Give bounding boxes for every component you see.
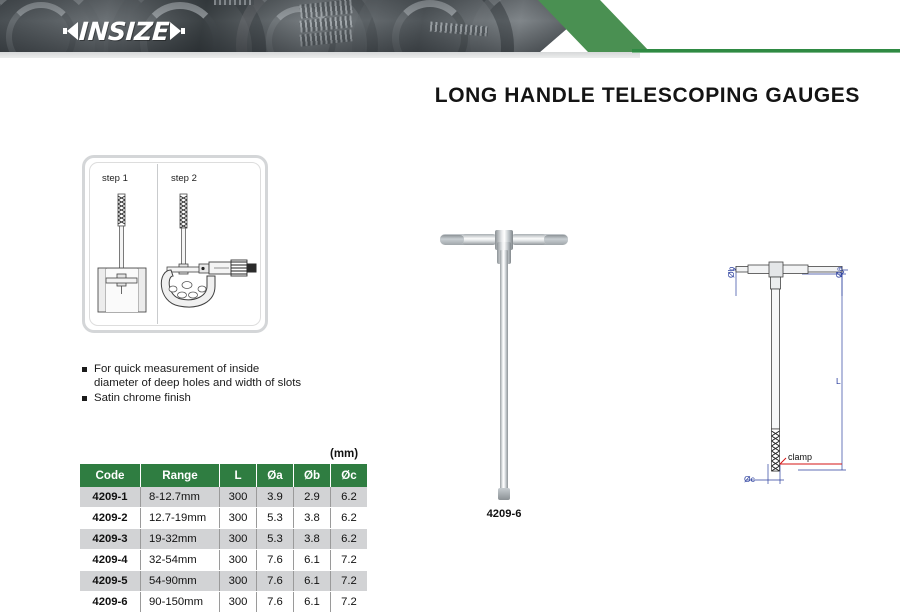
technical-drawing: Øb Øa L Øc clamp: [706, 252, 896, 520]
cell-range: 54-90mm: [141, 571, 220, 592]
list-item: For quick measurement of inside diameter…: [82, 362, 382, 390]
dimension-label-length: L: [836, 376, 841, 386]
cell-l: 300: [220, 508, 257, 529]
cell-oa: 7.6: [257, 550, 294, 571]
cell-oc: 7.2: [331, 571, 368, 592]
cell-oa: 5.3: [257, 508, 294, 529]
feature-text: For quick measurement of inside diameter…: [94, 362, 301, 390]
cell-ob: 3.8: [294, 508, 331, 529]
cell-ob: 6.1: [294, 571, 331, 592]
table-row: 4209-5 54-90mm 300 7.6 6.1 7.2: [80, 571, 367, 592]
cell-l: 300: [220, 487, 257, 508]
feature-list: For quick measurement of inside diameter…: [82, 362, 382, 406]
product-photo: 4209-6: [432, 212, 576, 512]
gauge-left-sleeve: [462, 234, 496, 245]
cell-code: 4209-4: [80, 550, 141, 571]
table-row: 4209-1 8-12.7mm 300 3.9 2.9 6.2: [80, 487, 367, 508]
cell-range: 32-54mm: [141, 550, 220, 571]
square-bullet-icon: [82, 367, 87, 372]
unit-note: (mm): [330, 448, 358, 460]
gauge-left-tip: [440, 235, 464, 244]
cell-range: 90-150mm: [141, 592, 220, 613]
gauge-right-sleeve: [512, 234, 546, 245]
cell-oc: 7.2: [331, 550, 368, 571]
cell-code: 4209-3: [80, 529, 141, 550]
left-arrow-icon: [67, 22, 78, 40]
dimension-label-dia-a: Øa: [834, 267, 844, 278]
page-header: INSIZE: [0, 0, 900, 60]
step2-label: step 2: [171, 173, 197, 184]
list-item: Satin chrome finish: [82, 391, 382, 405]
column-header-dia-a: Øa: [257, 464, 294, 487]
cell-oc: 7.2: [331, 592, 368, 613]
cell-oc: 6.2: [331, 529, 368, 550]
dimension-label-dia-b: Øb: [726, 267, 736, 278]
cell-l: 300: [220, 571, 257, 592]
cell-l: 300: [220, 592, 257, 613]
cell-l: 300: [220, 529, 257, 550]
product-caption: 4209-6: [432, 508, 576, 520]
cell-oa: 7.6: [257, 571, 294, 592]
table-header-row: Code Range L Øa Øb Øc: [80, 464, 367, 487]
cell-code: 4209-1: [80, 487, 141, 508]
step2-illustration: [159, 190, 261, 318]
header-grey-band: [0, 52, 640, 58]
column-header-code: Code: [80, 464, 141, 487]
column-header-dia-b: Øb: [294, 464, 331, 487]
table-row: 4209-6 90-150mm 300 7.6 6.1 7.2: [80, 592, 367, 613]
cell-ob: 2.9: [294, 487, 331, 508]
cell-code: 4209-2: [80, 508, 141, 529]
cell-oc: 6.2: [331, 487, 368, 508]
table-row: 4209-4 32-54mm 300 7.6 6.1 7.2: [80, 550, 367, 571]
usage-steps-diagram: step 1 step 2: [82, 155, 268, 333]
logo-right-bar: [181, 28, 185, 34]
drawing-svg: [706, 252, 896, 502]
cell-oc: 6.2: [331, 508, 368, 529]
cell-range: 12.7-19mm: [141, 508, 220, 529]
dimension-label-dia-c: Øc: [744, 474, 755, 484]
cell-oa: 5.3: [257, 529, 294, 550]
cell-oa: 7.6: [257, 592, 294, 613]
header-green-rule-light: [632, 52, 900, 53]
logo-wordmark: INSIZE: [78, 17, 170, 46]
column-header-dia-c: Øc: [331, 464, 368, 487]
cell-l: 300: [220, 550, 257, 571]
specifications-table: Code Range L Øa Øb Øc 4209-1 8-12.7mm 30…: [80, 464, 367, 613]
cell-range: 8-12.7mm: [141, 487, 220, 508]
column-header-range: Range: [141, 464, 220, 487]
feature-text: Satin chrome finish: [94, 391, 191, 405]
step1-illustration: [87, 190, 159, 318]
column-header-l: L: [220, 464, 257, 487]
cell-code: 4209-6: [80, 592, 141, 613]
page-title: LONG HANDLE TELESCOPING GAUGES: [0, 84, 860, 108]
gauge-right-tip: [544, 235, 568, 244]
cell-ob: 6.1: [294, 550, 331, 571]
gauge-clamp-knob: [498, 488, 510, 500]
table-row: 4209-3 19-32mm 300 5.3 3.8 6.2: [80, 529, 367, 550]
cell-code: 4209-5: [80, 571, 141, 592]
step1-label: step 1: [102, 173, 128, 184]
clamp-label: clamp: [788, 452, 812, 462]
cell-ob: 3.8: [294, 529, 331, 550]
cell-ob: 6.1: [294, 592, 331, 613]
right-arrow-icon: [170, 22, 181, 40]
square-bullet-icon: [82, 396, 87, 401]
table-row: 4209-2 12.7-19mm 300 5.3 3.8 6.2: [80, 508, 367, 529]
cell-oa: 3.9: [257, 487, 294, 508]
insize-logo: INSIZE: [48, 17, 200, 45]
gauge-handle-shaft: [500, 250, 508, 494]
cell-range: 19-32mm: [141, 529, 220, 550]
